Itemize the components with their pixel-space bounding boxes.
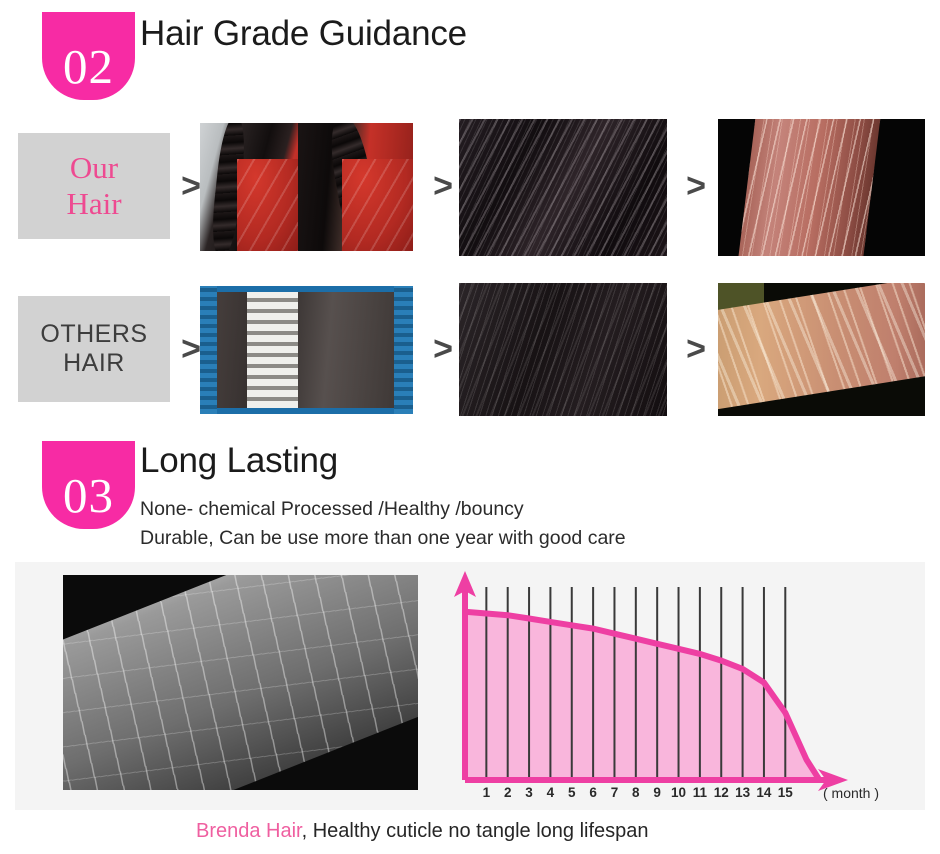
others-hair-bundles-photo	[200, 286, 413, 414]
row-label-our-hair: Our Hair	[18, 133, 170, 239]
others-hair-cuticle-micrograph	[718, 283, 925, 416]
healthy-cuticle-micrograph	[63, 575, 418, 790]
section-title-02: Hair Grade Guidance	[140, 14, 467, 54]
row-label-others-hair: OTHERS HAIR	[18, 296, 170, 402]
chart-x-tick-15: 15	[774, 785, 796, 800]
others-hair-closeup-photo	[459, 283, 667, 416]
chart-x-tick-13: 13	[732, 785, 754, 800]
section-03-subtitle-line1: None- chemical Processed /Healthy /bounc…	[140, 498, 524, 521]
our-hair-closeup-photo	[459, 119, 667, 256]
section-number-02: 02	[63, 39, 114, 94]
row-label-others-hair-line2: HAIR	[40, 349, 147, 378]
chevron-right-icon: >	[430, 166, 456, 206]
chart-x-tick-10: 10	[668, 785, 690, 800]
section-number-03: 03	[63, 468, 114, 523]
brand-name: Brenda Hair	[196, 820, 302, 842]
chart-x-tick-11: 11	[689, 785, 711, 800]
section-03-subtitle-line2: Durable, Can be use more than one year w…	[140, 527, 626, 550]
chart-x-tick-6: 6	[582, 785, 604, 800]
red-garment	[342, 159, 413, 251]
chart-x-tick-8: 8	[625, 785, 647, 800]
our-hair-cuticle-micrograph	[718, 119, 925, 256]
chart-x-tick-9: 9	[646, 785, 668, 800]
chart-area-fill	[465, 612, 820, 780]
chevron-right-icon: >	[683, 329, 709, 369]
our-hair-braid-photo	[200, 123, 413, 251]
row-label-our-hair-line2: Hair	[66, 186, 121, 222]
row-label-our-hair-line1: Our	[66, 150, 121, 186]
caption-rest: , Healthy cuticle no tangle long lifespa…	[302, 820, 649, 842]
chart-x-tick-2: 2	[497, 785, 519, 800]
chevron-right-icon: >	[683, 166, 709, 206]
chart-x-tick-4: 4	[539, 785, 561, 800]
section-badge-03: 03	[42, 441, 135, 529]
lifespan-chart-svg	[440, 565, 910, 810]
chevron-right-icon: >	[430, 329, 456, 369]
section-badge-02: 02	[42, 12, 135, 100]
chart-x-tick-1: 1	[475, 785, 497, 800]
hair-shaft	[737, 119, 882, 256]
section-title-03: Long Lasting	[140, 441, 338, 481]
footer-caption: Brenda Hair, Healthy cuticle no tangle l…	[196, 820, 649, 843]
chart-x-axis-unit-label: ( month )	[823, 785, 879, 801]
row-label-others-hair-line1: OTHERS	[40, 320, 147, 349]
chart-x-tick-7: 7	[603, 785, 625, 800]
braid-photo-right	[298, 123, 413, 251]
chart-x-tick-12: 12	[710, 785, 732, 800]
chart-x-tick-3: 3	[518, 785, 540, 800]
red-garment	[237, 159, 298, 251]
braid-photo-left	[200, 123, 298, 251]
chart-x-tick-14: 14	[753, 785, 775, 800]
chart-x-tick-5: 5	[561, 785, 583, 800]
lifespan-chart: 123456789101112131415 ( month )	[440, 565, 910, 810]
